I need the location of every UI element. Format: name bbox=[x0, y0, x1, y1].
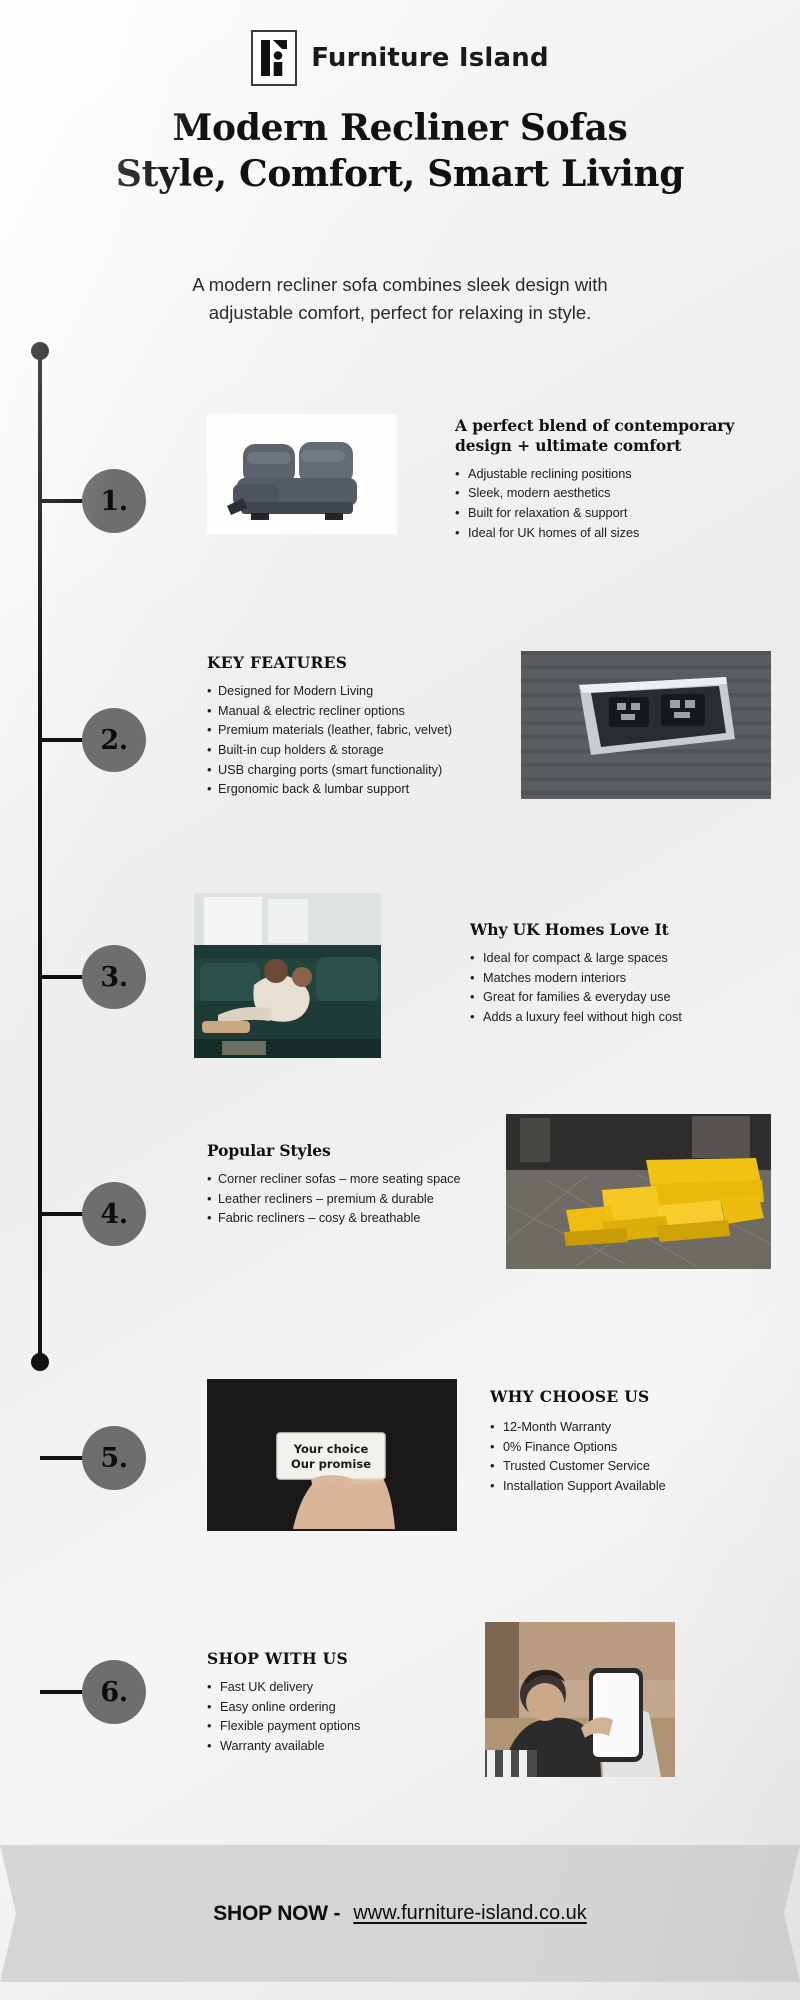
step-bullets-5: 12-Month Warranty 0% Finance Options Tru… bbox=[490, 1418, 790, 1496]
list-item: Ideal for compact & large spaces bbox=[470, 949, 790, 968]
list-item: Adjustable reclining positions bbox=[455, 465, 785, 484]
shop-url-link[interactable]: www.furniture-island.co.uk bbox=[353, 1902, 586, 1925]
furniture-island-monogram-icon bbox=[251, 30, 297, 86]
step-heading-1: A perfect blend of contemporary design +… bbox=[455, 416, 785, 456]
list-item: Built for relaxation & support bbox=[455, 504, 785, 523]
step-heading-6: SHOP WITH US bbox=[207, 1649, 472, 1669]
list-item: Designed for Modern Living bbox=[207, 682, 517, 701]
list-item: Warranty available bbox=[207, 1737, 472, 1756]
step-bullets-3: Ideal for compact & large spaces Matches… bbox=[470, 949, 790, 1027]
step-bullets-6: Fast UK delivery Easy online ordering Fl… bbox=[207, 1678, 472, 1756]
step-badge-1: 1. bbox=[82, 469, 146, 533]
list-item: Adds a luxury feel without high cost bbox=[470, 1008, 790, 1027]
list-item: Flexible payment options bbox=[207, 1717, 472, 1736]
subtitle-line-2: adjustable comfort, perfect for relaxing… bbox=[70, 299, 730, 327]
step-heading-2: KEY FEATURES bbox=[207, 653, 517, 673]
list-item: Manual & electric recliner options bbox=[207, 702, 517, 721]
step-image-2 bbox=[521, 651, 771, 799]
timeline-end-dot bbox=[31, 1353, 49, 1371]
step-heading-5: WHY CHOOSE US bbox=[490, 1387, 790, 1407]
step-badge-4: 4. bbox=[82, 1182, 146, 1246]
list-item: Corner recliner sofas – more seating spa… bbox=[207, 1170, 482, 1189]
list-item: Leather recliners – premium & durable bbox=[207, 1190, 482, 1209]
step-heading-4: Popular Styles bbox=[207, 1141, 482, 1161]
list-item: Sleek, modern aesthetics bbox=[455, 484, 785, 503]
list-item: Fabric recliners – cosy & breathable bbox=[207, 1209, 482, 1228]
list-item: Trusted Customer Service bbox=[490, 1457, 790, 1476]
list-item: Built-in cup holders & storage bbox=[207, 741, 517, 760]
timeline-start-dot bbox=[31, 342, 49, 360]
step-badge-2: 2. bbox=[82, 708, 146, 772]
step-image-6 bbox=[485, 1622, 675, 1777]
title-line-2: Style, Comfort, Smart Living bbox=[40, 151, 760, 197]
step-image-1 bbox=[207, 414, 397, 534]
step-content-5: WHY CHOOSE US 12-Month Warranty 0% Finan… bbox=[490, 1387, 790, 1497]
list-item: Ergonomic back & lumbar support bbox=[207, 780, 517, 799]
list-item: Premium materials (leather, fabric, velv… bbox=[207, 721, 517, 740]
list-item: Installation Support Available bbox=[490, 1477, 790, 1496]
list-item: Matches modern interiors bbox=[470, 969, 790, 988]
page-title: Modern Recliner Sofas Style, Comfort, Sm… bbox=[40, 105, 760, 197]
list-item: 0% Finance Options bbox=[490, 1438, 790, 1457]
step-number-6: 6. bbox=[100, 1677, 127, 1708]
list-item: Great for families & everyday use bbox=[470, 988, 790, 1007]
list-item: Easy online ordering bbox=[207, 1698, 472, 1717]
step-badge-3: 3. bbox=[82, 945, 146, 1009]
shop-now-label: SHOP NOW - bbox=[213, 1902, 340, 1926]
step-badge-6: 6. bbox=[82, 1660, 146, 1724]
step-content-3: Why UK Homes Love It Ideal for compact &… bbox=[470, 920, 790, 1028]
brand-logo: Furniture Island bbox=[0, 30, 800, 86]
brand-name: Furniture Island bbox=[311, 43, 549, 73]
step-badge-5: 5. bbox=[82, 1426, 146, 1490]
step-image-3 bbox=[194, 893, 381, 1058]
step-content-4: Popular Styles Corner recliner sofas – m… bbox=[207, 1141, 482, 1229]
promise-card-line-2: Our promise bbox=[291, 1457, 371, 1471]
list-item: Ideal for UK homes of all sizes bbox=[455, 524, 785, 543]
step-number-2: 2. bbox=[100, 725, 127, 756]
step-number-5: 5. bbox=[100, 1443, 127, 1474]
step-number-3: 3. bbox=[100, 962, 127, 993]
step-bullets-4: Corner recliner sofas – more seating spa… bbox=[207, 1170, 482, 1228]
subtitle-line-1: A modern recliner sofa combines sleek de… bbox=[70, 271, 730, 299]
infographic-page: Furniture Island Modern Recliner Sofas S… bbox=[0, 0, 800, 2000]
list-item: USB charging ports (smart functionality) bbox=[207, 761, 517, 780]
page-subtitle: A modern recliner sofa combines sleek de… bbox=[70, 271, 730, 327]
step-number-4: 4. bbox=[100, 1199, 127, 1230]
step-bullets-2: Designed for Modern Living Manual & elec… bbox=[207, 682, 517, 799]
step-bullets-1: Adjustable reclining positions Sleek, mo… bbox=[455, 465, 785, 543]
step-heading-3: Why UK Homes Love It bbox=[470, 920, 790, 940]
step-image-4 bbox=[506, 1114, 771, 1269]
list-item: 12-Month Warranty bbox=[490, 1418, 790, 1437]
step-content-1: A perfect blend of contemporary design +… bbox=[455, 416, 785, 543]
promise-card-line-1: Your choice bbox=[293, 1442, 369, 1456]
step-number-1: 1. bbox=[100, 486, 127, 517]
step-image-5: Your choice Our promise bbox=[207, 1379, 457, 1531]
title-line-1: Modern Recliner Sofas bbox=[40, 105, 760, 151]
list-item: Fast UK delivery bbox=[207, 1678, 472, 1697]
footer-cta-band: SHOP NOW - www.furniture-island.co.uk bbox=[0, 1845, 800, 1982]
step-content-2: KEY FEATURES Designed for Modern Living … bbox=[207, 653, 517, 800]
step-content-6: SHOP WITH US Fast UK delivery Easy onlin… bbox=[207, 1649, 472, 1757]
